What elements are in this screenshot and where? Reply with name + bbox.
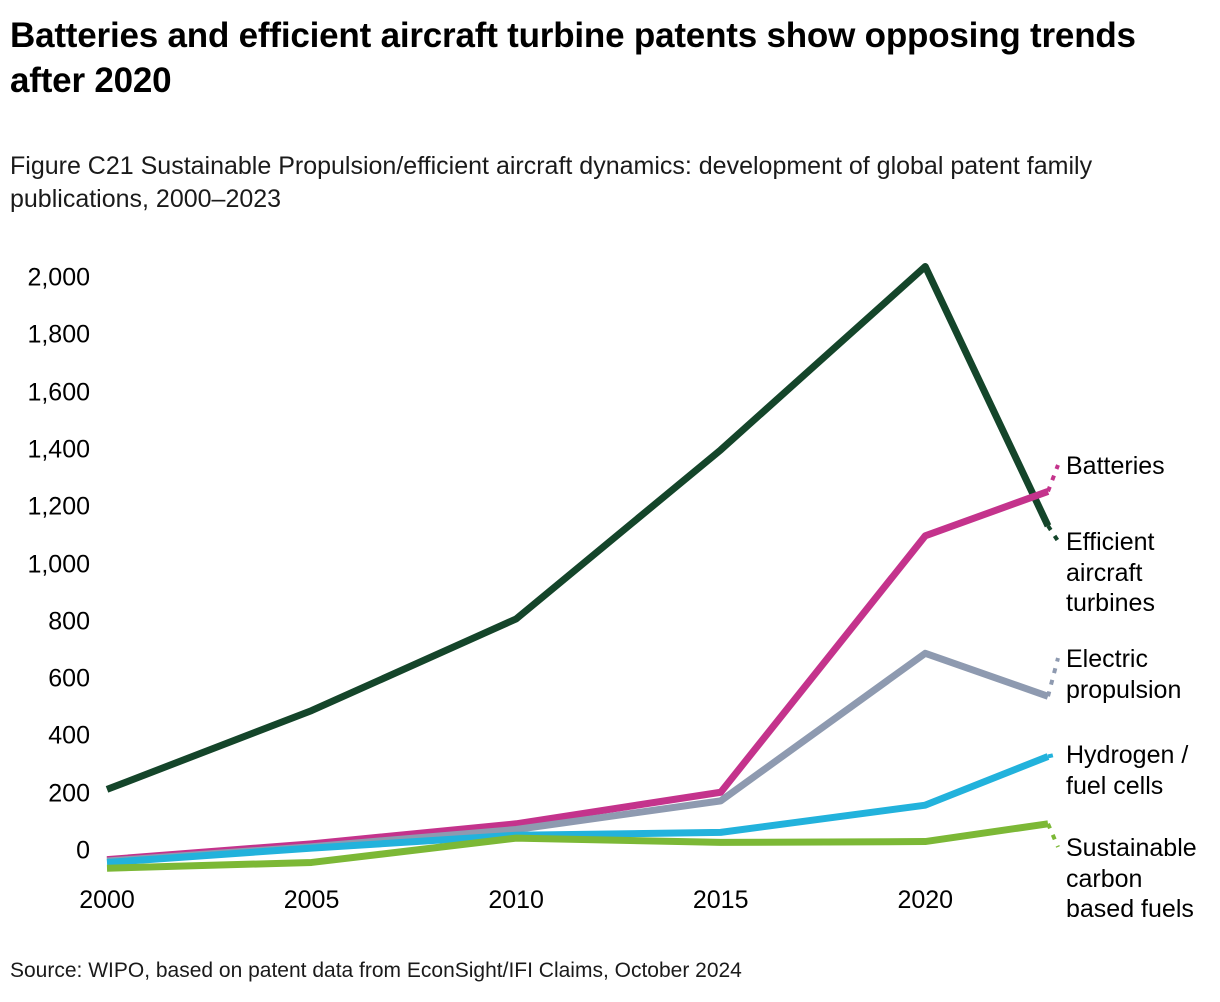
chart-legend: BatteriesEfficient aircraft turbinesElec… <box>0 255 1220 915</box>
chart-plot-area: 02004006008001,0001,2001,4001,6001,8002,… <box>0 255 1220 915</box>
page-subtitle: Figure C21 Sustainable Propulsion/effici… <box>10 150 1195 217</box>
legend-label-efficient-aircraft-turbines[interactable]: Efficient aircraft turbines <box>1066 527 1155 619</box>
legend-label-hydrogen-fuel-cells[interactable]: Hydrogen / fuel cells <box>1066 740 1188 801</box>
legend-label-electric-propulsion[interactable]: Electric propulsion <box>1066 644 1181 705</box>
legend-label-batteries[interactable]: Batteries <box>1066 451 1165 482</box>
page-title: Batteries and efficient aircraft turbine… <box>10 14 1140 104</box>
chart-page: Batteries and efficient aircraft turbine… <box>0 0 1220 1002</box>
source-note: Source: WIPO, based on patent data from … <box>10 958 742 983</box>
legend-label-sustainable-carbon-based-fuels[interactable]: Sustainable carbon based fuels <box>1066 833 1197 925</box>
